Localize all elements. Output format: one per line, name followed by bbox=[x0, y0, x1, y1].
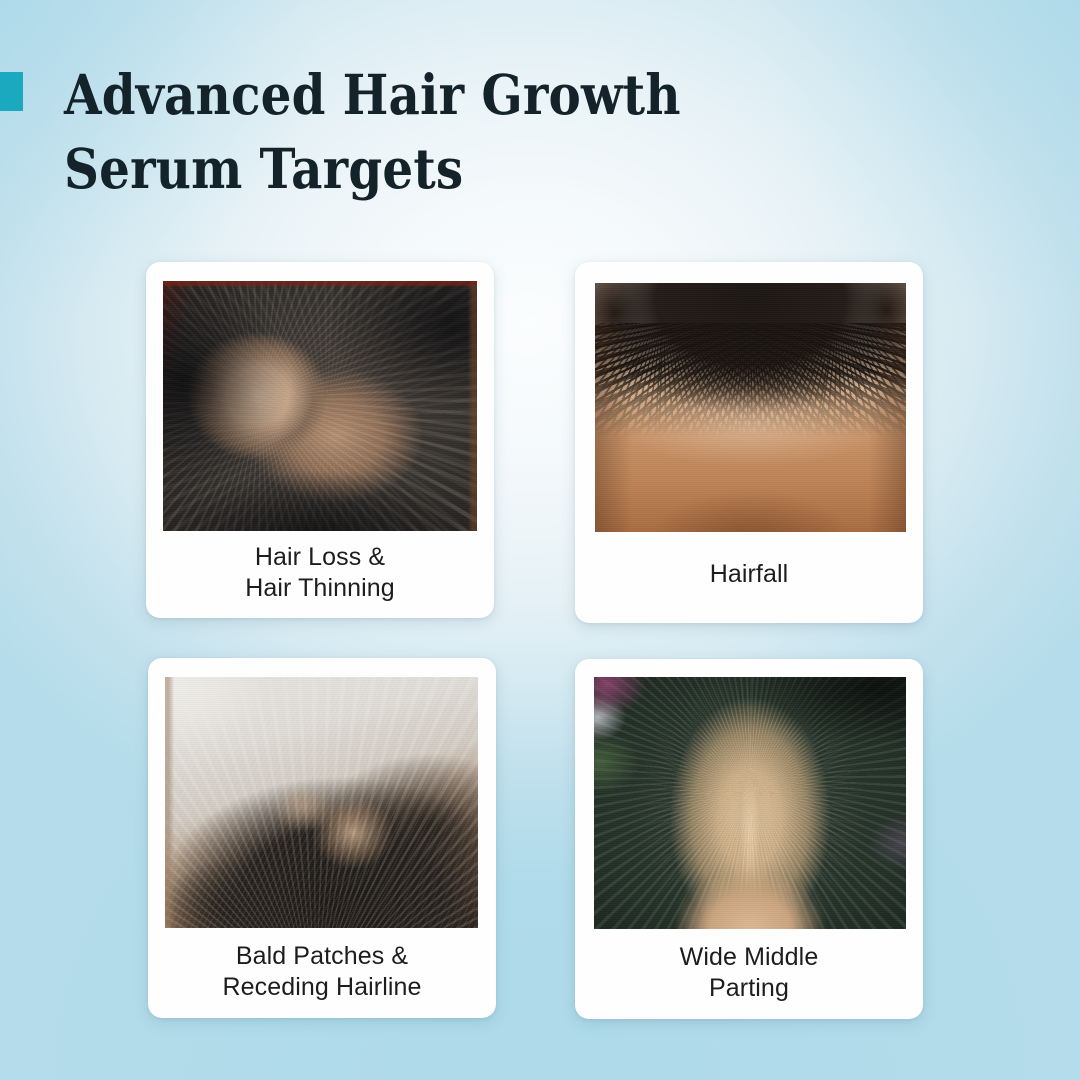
card-caption: Wide Middle Parting bbox=[575, 936, 923, 1010]
card-hairfall[interactable]: Hairfall bbox=[575, 262, 923, 623]
page-title: Advanced Hair Growth Serum Targets bbox=[64, 58, 768, 206]
card-caption: Bald Patches & Receding Hairline bbox=[148, 935, 496, 1009]
card-caption-line-1: Hairfall bbox=[710, 559, 789, 590]
card-hair-loss-thinning[interactable]: Hair Loss & Hair Thinning bbox=[146, 262, 494, 618]
forehead-hairline-photo bbox=[595, 283, 906, 532]
card-caption-line-2: Parting bbox=[680, 973, 819, 1004]
page-title-line-1: Advanced Hair Growth bbox=[64, 58, 768, 132]
bald-patch-scalp-photo bbox=[165, 677, 478, 928]
middle-parting-scalp-photo bbox=[594, 677, 906, 929]
card-caption-line-1: Wide Middle bbox=[680, 942, 819, 973]
card-caption: Hairfall bbox=[575, 534, 923, 614]
accent-bar bbox=[0, 72, 23, 111]
card-caption: Hair Loss & Hair Thinning bbox=[146, 537, 494, 609]
card-bald-patches-receding-hairline[interactable]: Bald Patches & Receding Hairline bbox=[148, 658, 496, 1018]
scalp-crown-thinning-photo bbox=[163, 281, 477, 531]
card-caption-line-2: Hair Thinning bbox=[245, 573, 395, 604]
card-caption-line-1: Bald Patches & bbox=[222, 941, 421, 972]
card-wide-middle-parting[interactable]: Wide Middle Parting bbox=[575, 659, 923, 1019]
page-title-line-2: Serum Targets bbox=[64, 132, 768, 206]
card-caption-line-1: Hair Loss & bbox=[245, 542, 395, 573]
card-caption-line-2: Receding Hairline bbox=[222, 972, 421, 1003]
